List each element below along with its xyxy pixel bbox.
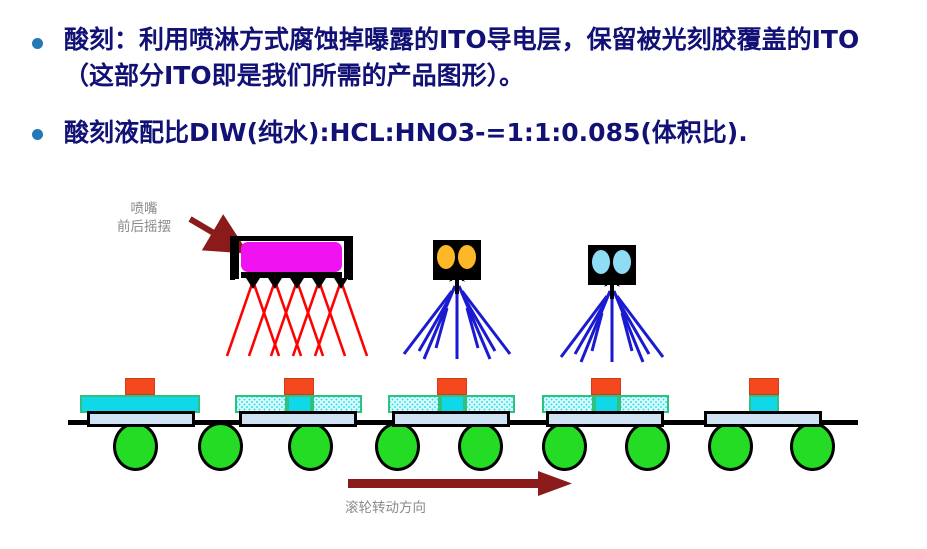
glass-substrate	[392, 411, 510, 427]
conveyor-roller	[288, 422, 333, 471]
photoresist-block	[437, 378, 467, 395]
roller-circle-icon	[613, 250, 631, 274]
roller-circle-icon	[437, 245, 455, 269]
nozzle-pointer-arrow	[190, 219, 229, 242]
substrate-1	[80, 378, 200, 422]
nozzle-annotation-label: 喷嘴 前后摇摆	[117, 200, 171, 236]
conveyor-roller	[542, 422, 587, 471]
bullet-marker-icon	[32, 129, 43, 140]
glass-substrate	[546, 411, 664, 427]
conveyor-roller	[113, 422, 158, 471]
substrate-4	[542, 378, 669, 422]
photoresist-block	[749, 378, 779, 395]
spray-cone-blue-station-3	[561, 291, 663, 362]
spray-station-1-head[interactable]	[230, 236, 353, 286]
spray-head-1-left-bracket	[234, 241, 239, 279]
conveyor-roller	[708, 422, 753, 471]
nozzle-tip-icon	[312, 278, 326, 289]
conveyor-roller	[375, 422, 420, 471]
photoresist-block	[125, 378, 155, 395]
glass-substrate	[87, 411, 195, 427]
spray-cone-blue-station-2	[404, 286, 510, 359]
glass-substrate	[704, 411, 822, 427]
conveyor-roller	[458, 422, 503, 471]
bullet-item-acid-etch-description: 酸刻：利用喷淋方式腐蚀掉曝露的ITO导电层，保留被光刻胶覆盖的ITO（这部分IT…	[0, 22, 927, 93]
photoresist-block	[284, 378, 314, 395]
conveyor-roller	[790, 422, 835, 471]
conveyor-roller	[625, 422, 670, 471]
spray-head-1-magenta-body	[241, 242, 342, 272]
bullet-list: 酸刻：利用喷淋方式腐蚀掉曝露的ITO导电层，保留被光刻胶覆盖的ITO（这部分IT…	[0, 22, 927, 169]
photoresist-block	[591, 378, 621, 395]
nozzle-tip-icon	[268, 278, 282, 289]
nozzle-tip-icon	[290, 278, 304, 289]
bullet-marker-icon	[32, 38, 43, 49]
substrate-3	[388, 378, 515, 422]
conveyor-roller	[198, 422, 243, 471]
nozzle-tip-icon	[246, 278, 260, 289]
glass-substrate	[239, 411, 357, 427]
bullet-text-etchant-ratio: 酸刻液配比DIW(纯水):HCL:HNO3-=1:1:0.085(体积比).	[64, 115, 748, 151]
nozzle-tip-icon	[334, 278, 348, 289]
substrate-2	[235, 378, 362, 422]
bullet-text-acid-etch-description: 酸刻：利用喷淋方式腐蚀掉曝露的ITO导电层，保留被光刻胶覆盖的ITO（这部分IT…	[64, 22, 903, 93]
spray-head-3-up-arrow-icon	[601, 273, 625, 299]
substrate-5	[700, 378, 827, 422]
roller-direction-label: 滚轮转动方向	[345, 496, 426, 516]
etching-process-diagram: 喷嘴 前后摇摆	[0, 196, 927, 549]
slide-canvas: 酸刻：利用喷淋方式腐蚀掉曝露的ITO导电层，保留被光刻胶覆盖的ITO（这部分IT…	[0, 0, 927, 549]
roller-circle-icon	[592, 250, 610, 274]
roller-direction-arrow	[348, 471, 572, 496]
roller-circle-icon	[458, 245, 476, 269]
spray-cone-red-station-1	[227, 281, 367, 356]
nozzle-label-line-1: 喷嘴	[131, 201, 158, 217]
spray-head-2-up-arrow-icon	[446, 268, 470, 294]
nozzle-label-line-2: 前后摇摆	[117, 219, 171, 235]
spray-head-1-right-bracket	[344, 241, 349, 279]
bullet-item-etchant-ratio: 酸刻液配比DIW(纯水):HCL:HNO3-=1:1:0.085(体积比).	[0, 115, 927, 151]
